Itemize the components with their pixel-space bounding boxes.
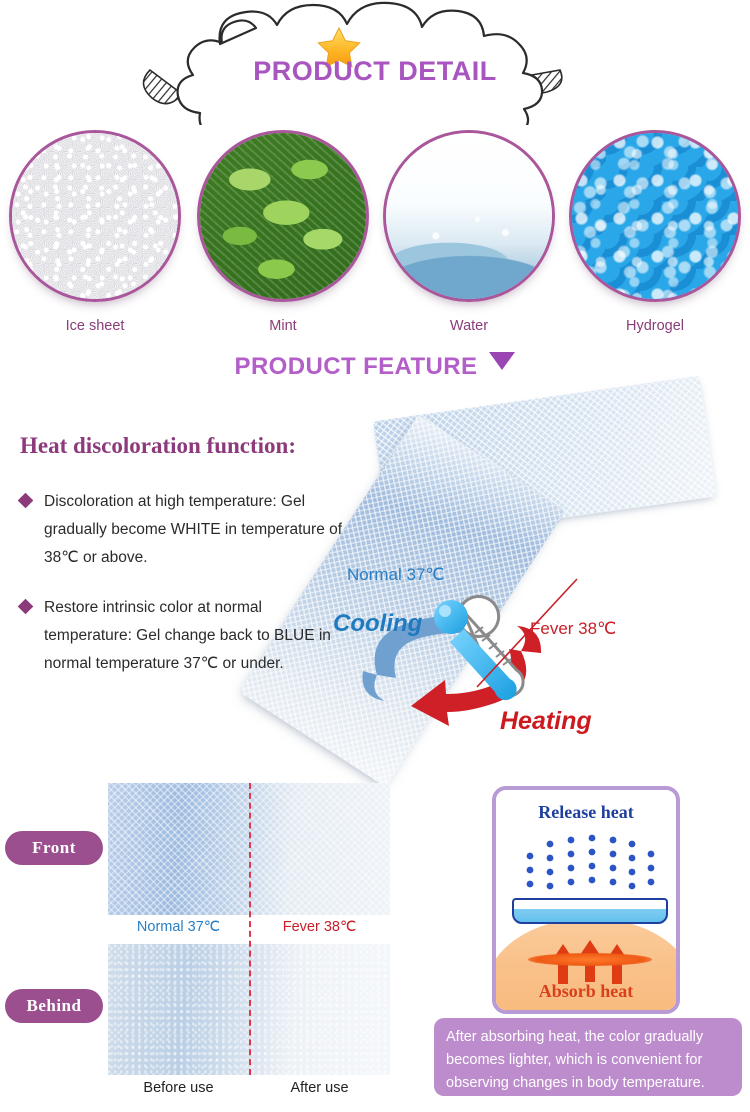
gel-pad-icon [512,898,668,924]
diamond-bullet-icon [18,493,34,509]
list-item: Restore intrinsic color at normal temper… [18,594,348,678]
behind-badge: Behind [5,989,103,1023]
front-caption-right: Fever 38℃ [249,919,390,941]
bottom-caption: After absorbing heat, the color graduall… [434,1018,742,1096]
product-detail-page: PRODUCT DETAIL Ice sheet Mint Water Hydr… [0,0,750,1112]
water-image [383,130,555,302]
discoloration-bullets: Discoloration at high temperature: Gel g… [18,488,348,700]
ingredient-label: Ice sheet [2,318,188,334]
behind-caption-left: Before use [108,1080,249,1102]
cycle-arrows-icon [325,555,655,755]
ingredient-item[interactable]: Hydrogel [562,130,748,345]
ingredient-item[interactable]: Water [376,130,562,345]
heat-exchange-panel: Release heat Absorb heat [492,786,680,1014]
normal-temp-label: Normal 37℃ [347,565,445,585]
ingredient-label: Mint [190,318,376,334]
front-captions: Normal 37℃ Fever 38℃ [108,919,390,941]
mint-image [197,130,369,302]
front-caption-left: Normal 37℃ [108,919,249,941]
fever-temp-label: Fever 38℃ [530,619,616,639]
page-title: PRODUCT DETAIL [0,56,750,87]
cooling-label: Cooling [333,610,422,638]
ingredient-circles: Ice sheet Mint Water Hydrogel [0,130,750,345]
front-badge: Front [5,831,103,865]
product-feature-title: PRODUCT FEATURE [235,353,478,380]
heat-source-glow [528,953,652,966]
heating-label: Heating [500,707,592,736]
list-item: Discoloration at high temperature: Gel g… [18,488,348,572]
ice-sheet-image [9,130,181,302]
ingredient-label: Water [376,318,562,334]
ingredient-label: Hydrogel [562,318,748,334]
behind-captions: Before use After use [108,1080,390,1102]
behind-caption-right: After use [249,1080,390,1102]
ingredient-item[interactable]: Ice sheet [2,130,188,345]
ingredient-item[interactable]: Mint [190,130,376,345]
bullet-text: Discoloration at high temperature: Gel g… [44,488,348,572]
cooling-heating-diagram: Normal 37℃ Fever 38℃ Cooling Heating [325,555,655,755]
bullet-text: Restore intrinsic color at normal temper… [44,594,348,678]
absorb-heat-label: Absorb heat [496,981,676,1002]
hydrogel-image [569,130,741,302]
cloud-banner: PRODUCT DETAIL [0,0,750,125]
diamond-bullet-icon [18,599,34,615]
chevron-down-icon [489,352,515,370]
discoloration-title: Heat discoloration function: [20,433,296,459]
product-feature-header: PRODUCT FEATURE [0,352,750,381]
